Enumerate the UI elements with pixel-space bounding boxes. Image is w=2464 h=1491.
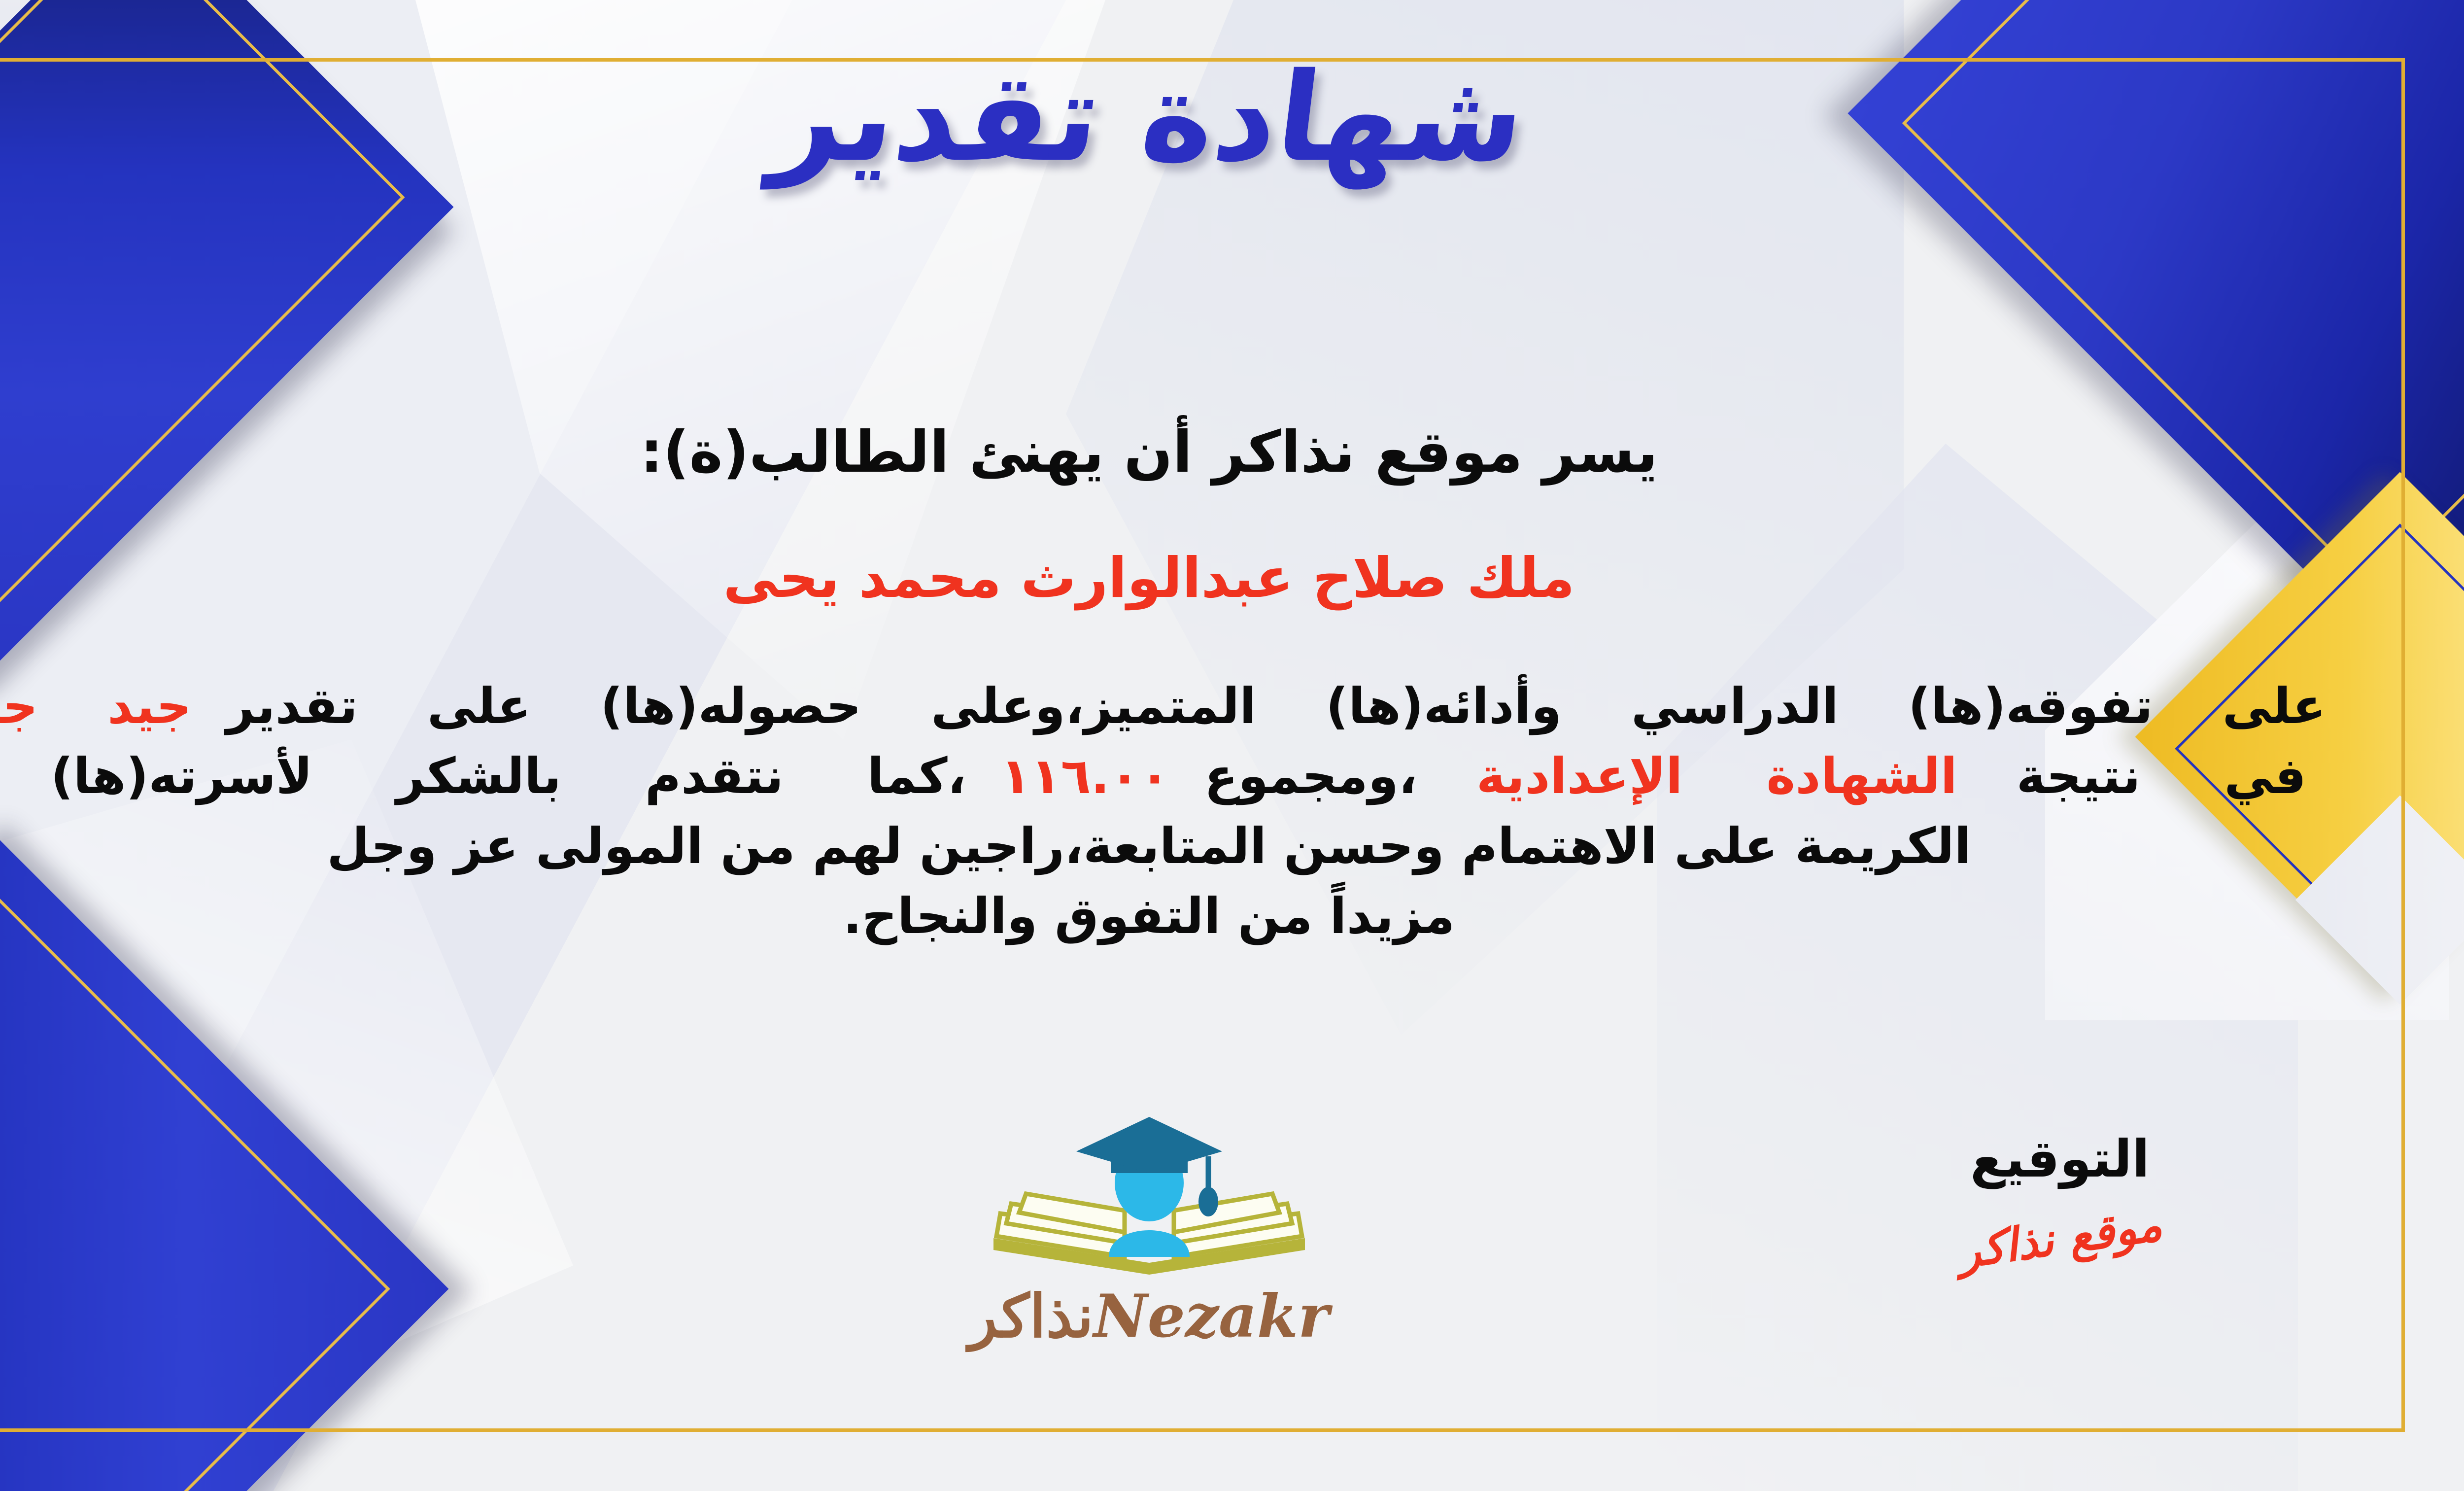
result-prefix: في نتيجة [2017, 747, 2306, 805]
body-line-1: على تفوقه(ها) الدراسي وأدائه(ها) المتميز… [0, 671, 2370, 741]
grade-value: جيد جداً [0, 677, 192, 735]
body-line-4: مزيداً من التفوق والنجاح. [0, 881, 2370, 951]
signature-block: التوقيع موقع نذاكر [1887, 1129, 2232, 1265]
certificate-content: شهادة تقدير يسر موقع نذاكر أن يهنئ الطال… [0, 0, 2380, 1491]
certificate-page: شهادة تقدير يسر موقع نذاكر أن يهنئ الطال… [0, 0, 2464, 1491]
total-score: ١١٦.٠٠ [1001, 747, 1170, 805]
logo-arabic-text: نذاكر [969, 1282, 1094, 1351]
certificate-type: الشهادة الإعدادية [1476, 747, 1957, 805]
certificate-body: على تفوقه(ها) الدراسي وأدائه(ها) المتميز… [0, 671, 2370, 951]
graduate-book-logo-icon [977, 1109, 1322, 1286]
signature-label: التوقيع [1887, 1129, 2232, 1189]
logo-wordmark: Nezakrنذاكر [947, 1282, 1351, 1351]
thanks-text: ،كما نتقدم بالشكر لأسرته(ها) [51, 747, 966, 805]
body-line-3: الكريمة على الاهتمام وحسن المتابعة،راجين… [0, 811, 2370, 881]
body-line-1-text: على تفوقه(ها) الدراسي وأدائه(ها) المتميز… [226, 677, 2326, 735]
student-name: ملك صلاح عبدالوارث محمد يحى [0, 546, 2380, 610]
signature-mark: موقع نذاكر [1955, 1198, 2165, 1279]
logo-latin-text: Nezakr [1094, 1282, 1329, 1351]
intro-text: يسر موقع نذاكر أن يهنئ الطالب(ة): [0, 419, 2380, 485]
certificate-title: شهادة تقدير [0, 47, 2389, 189]
site-logo: Nezakrنذاكر [947, 1109, 1351, 1351]
total-label: ،ومجموع [1204, 747, 1417, 805]
body-line-2: في نتيجةالشهادة الإعدادية،ومجموع١١٦.٠٠،ك… [0, 741, 2370, 811]
